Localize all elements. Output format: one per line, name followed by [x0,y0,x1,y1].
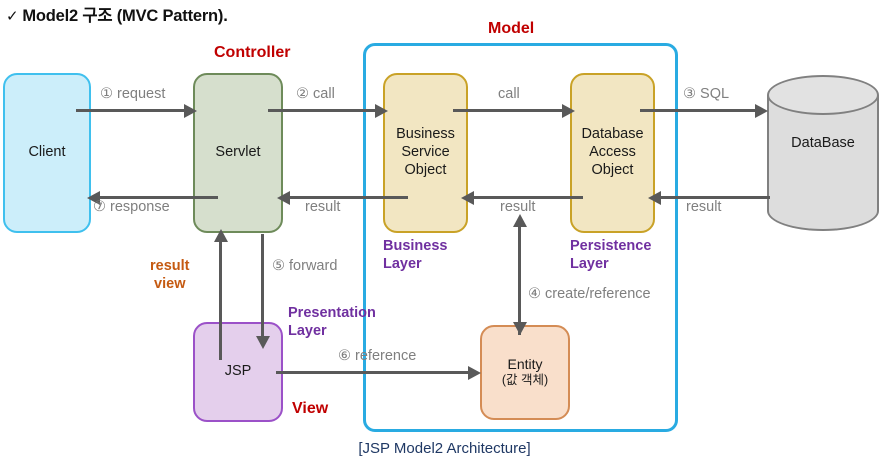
arrow-result-bso-label: result [305,199,340,215]
figure-caption: [JSP Model2 Architecture] [0,440,889,457]
arrow-sql-line [640,109,760,112]
model-label: Model [488,20,534,38]
arrow-request-label: ① request [100,86,165,102]
arrow-result-view-label-line-1: result [150,258,190,276]
arrow-call-plain-line [453,109,565,112]
arrow-call-label: ② call [296,86,335,102]
page-title: ✓Model2 구조 (MVC Pattern). [6,2,228,26]
node-dao-line-1: Database [572,126,653,144]
arrow-response-label: ⑦ response [93,199,170,215]
node-dao-line-3: Object [572,162,653,180]
arrow-request-line [76,109,186,112]
node-client[interactable]: Client [3,73,91,233]
arrow-result-view-label-line-2: view [150,276,190,294]
layer-persistence-line-2: Layer [570,256,651,274]
layer-persistence-line-1: Persistence [570,238,651,256]
arrow-result-view-label: result view [150,258,190,293]
diagram-canvas: ✓Model2 구조 (MVC Pattern). Model Controll… [0,0,889,467]
node-entity-sublabel: (값 객체) [482,373,568,388]
arrow-call-plain-label: call [498,86,520,102]
arrow-reference-label: ⑥ reference [338,348,416,364]
arrow-reference-line [276,371,471,374]
arrow-forward-label: ⑤ forward [272,258,337,274]
node-jsp-label: JSP [195,363,281,381]
database-cylinder-top [767,75,879,115]
node-database-label: DataBase [767,135,879,151]
checkmark-icon: ✓ [6,8,18,25]
arrow-create-reference-head-down [513,322,527,335]
node-servlet-label: Servlet [195,144,281,162]
node-database[interactable]: DataBase [767,75,879,233]
arrow-reference-head [468,366,481,380]
arrow-call-line [268,109,378,112]
arrow-create-reference-label: ④ create/reference [528,286,651,302]
arrow-forward-line [261,234,264,344]
node-bso-line-1: Business [385,126,466,144]
node-client-label: Client [5,144,89,162]
arrow-result-view-head [214,229,228,242]
controller-label: Controller [214,44,290,62]
node-bso-line-3: Object [385,162,466,180]
arrow-result-dao-label: result [500,199,535,215]
node-servlet[interactable]: Servlet [193,73,283,233]
node-entity[interactable]: Entity (값 객체) [480,325,570,420]
database-cylinder-body [767,95,879,231]
arrow-result-view-line [219,240,222,360]
arrow-sql-label: ③ SQL [683,86,729,102]
layer-label-persistence: Persistence Layer [570,238,651,273]
arrow-create-reference-head-up [513,214,527,227]
view-label: View [292,400,328,418]
arrow-call-plain-head [562,104,575,118]
arrow-sql-head [755,104,768,118]
node-bso-line-2: Service [385,144,466,162]
node-business-service-object[interactable]: Business Service Object [383,73,468,233]
arrow-result-bso-head [277,191,290,205]
layer-label-business: Business Layer [383,238,447,273]
arrow-forward-head [256,336,270,349]
layer-label-presentation: Presentation Layer [288,305,376,340]
page-title-text: Model2 구조 (MVC Pattern). [22,7,227,25]
layer-presentation-line-2: Layer [288,323,376,341]
layer-business-line-1: Business [383,238,447,256]
arrow-request-head [184,104,197,118]
arrow-result-db-head [648,191,661,205]
arrow-result-dao-head [461,191,474,205]
layer-business-line-2: Layer [383,256,447,274]
node-entity-label: Entity [482,356,568,373]
arrow-create-reference-line [518,225,521,335]
arrow-result-db-label: result [686,199,721,215]
node-dao-line-2: Access [572,144,653,162]
arrow-call-head [375,104,388,118]
node-database-access-object[interactable]: Database Access Object [570,73,655,233]
layer-presentation-line-1: Presentation [288,305,376,323]
